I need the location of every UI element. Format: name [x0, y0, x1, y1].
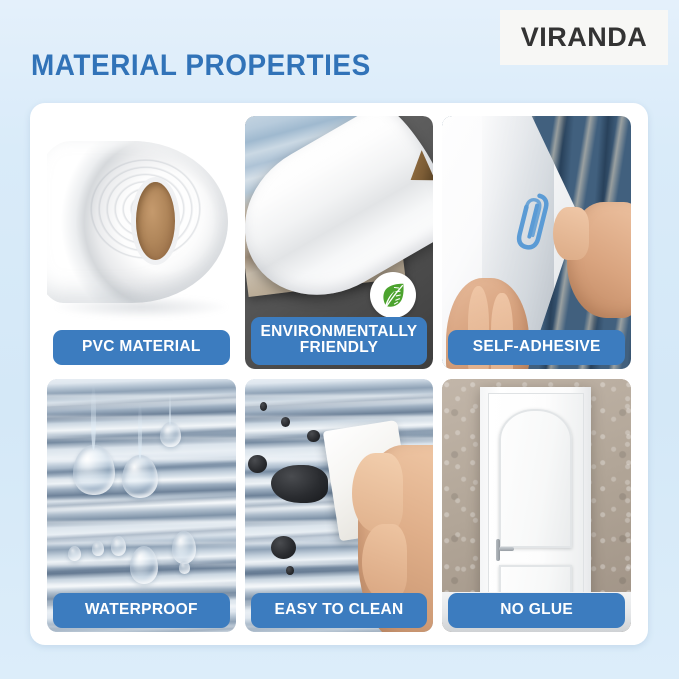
brand-name: VIRANDA — [521, 22, 648, 53]
dirt-stain — [286, 566, 294, 575]
roll-cardboard-core — [136, 182, 176, 260]
door-handle — [496, 539, 500, 561]
door-panel-upper — [499, 409, 572, 548]
feature-label-environmentally-friendly: ENVIRONMENTALLYFRIENDLY — [251, 317, 428, 365]
feature-tile-no-glue: NO GLUE — [442, 379, 631, 632]
feature-grid: PVC MATERIAL ENVIRONMENTALLYFRIENDLY — [47, 116, 631, 632]
water-droplet — [172, 531, 197, 564]
water-droplet — [92, 541, 103, 556]
dirt-stain — [271, 536, 296, 559]
feature-tile-waterproof: WATERPROOF — [47, 379, 236, 632]
leaf-icon — [378, 280, 408, 310]
feature-label-self-adhesive: SELF-ADHESIVE — [448, 330, 625, 365]
dirt-stain — [260, 402, 268, 411]
feature-tile-environmentally-friendly: ENVIRONMENTALLYFRIENDLY — [245, 116, 434, 369]
feature-label-easy-to-clean: EASY TO CLEAN — [251, 593, 428, 628]
feature-tile-self-adhesive: SELF-ADHESIVE — [442, 116, 631, 369]
water-droplet — [73, 445, 115, 496]
feature-label-no-glue: NO GLUE — [448, 593, 625, 628]
water-droplet — [68, 546, 81, 561]
feature-label-waterproof: WATERPROOF — [53, 593, 230, 628]
feature-tile-pvc-material: PVC MATERIAL — [47, 116, 236, 369]
dirt-stain — [271, 465, 328, 503]
water-droplet — [130, 546, 158, 584]
dirt-stain — [281, 417, 290, 427]
water-droplet — [160, 422, 181, 447]
feature-card: PVC MATERIAL ENVIRONMENTALLYFRIENDLY — [30, 103, 648, 645]
leaf-icon-badge — [370, 272, 416, 318]
water-droplet — [111, 536, 126, 556]
water-droplet — [179, 561, 190, 574]
feature-label-pvc-material: PVC MATERIAL — [53, 330, 230, 365]
feature-tile-easy-to-clean: EASY TO CLEAN — [245, 379, 434, 632]
brand-logo: VIRANDA — [500, 10, 668, 65]
page-title: MATERIAL PROPERTIES — [31, 49, 371, 83]
dirt-stain — [248, 455, 267, 473]
